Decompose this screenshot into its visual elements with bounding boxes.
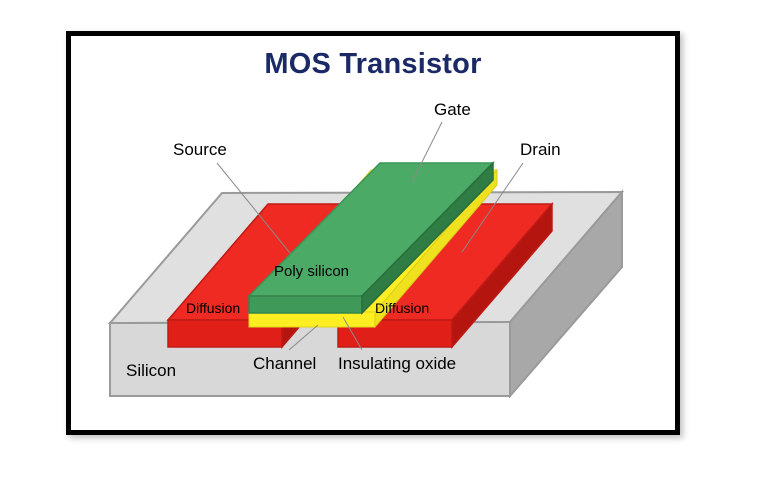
label-source: Source xyxy=(173,140,227,160)
label-poly-silicon: Poly silicon xyxy=(274,263,349,280)
label-channel: Channel xyxy=(253,354,316,374)
label-gate: Gate xyxy=(434,100,471,120)
page-title: MOS Transistor xyxy=(71,48,675,81)
label-drain: Drain xyxy=(520,140,561,160)
figure-canvas: MOS Transistor Source Gate Drain Poly si… xyxy=(0,0,768,481)
label-diffusion-source: Diffusion xyxy=(186,300,240,316)
label-diffusion-drain: Diffusion xyxy=(375,300,429,316)
label-insulating-oxide: Insulating oxide xyxy=(338,354,456,374)
label-silicon: Silicon xyxy=(126,361,176,381)
